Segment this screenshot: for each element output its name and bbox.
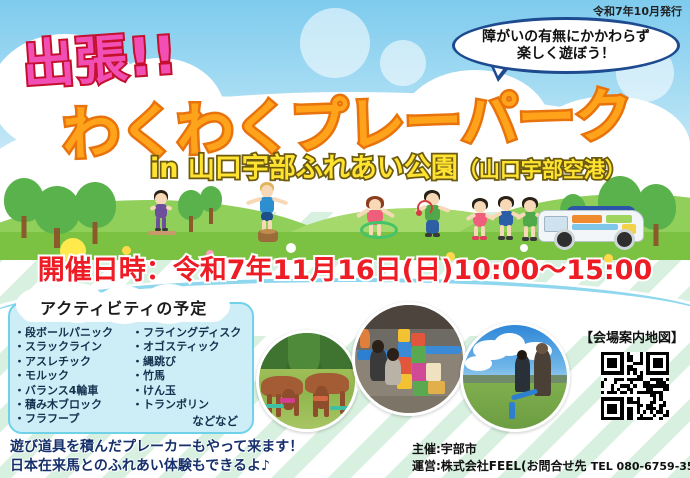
activity-item: ・バランス4輪車 — [14, 384, 126, 398]
kid-kendama-illustration — [414, 190, 450, 240]
activities-column-right: ・フライングディスク ・オゴスティック ・縄跳び ・竹馬 ・けん玉 ・トランポリ… — [132, 326, 244, 429]
speech-bubble: 障がいの有無にかかわらず 楽しく遊ぼう！ — [452, 17, 680, 74]
activities-columns: ・段ボールパニック ・スラックライン ・アスレチック ・モルック ・バランス4輪… — [14, 326, 250, 429]
venue-map-label: 【会場案内地図】 — [580, 327, 684, 346]
tree-icon — [74, 182, 116, 242]
activity-item: ・フラフープ — [14, 412, 126, 426]
footer-left-note: 遊び道具を積んだプレーカーもやって来ます！ 日本在来馬とのふれあい体験もできるよ… — [10, 438, 303, 476]
footer-host: 主催:宇部市 — [412, 442, 477, 456]
subtitle: in 山口宇部ふれあい公園（山口宇部空港） — [150, 146, 626, 185]
speech-bubble-line1: 障がいの有無にかかわらず — [482, 29, 650, 45]
activity-item: ・段ボールパニック — [14, 326, 126, 340]
event-flyer: 令和7年10月発行 障がいの有無にかかわらず 楽しく遊ぼう！ 出張!! わくわく… — [0, 0, 690, 478]
subtitle-airport: （山口宇部空港） — [458, 158, 626, 182]
date-banner: 開催日時：令和7年11月16日(日)10:00～15:00 — [38, 248, 653, 287]
footer-tel: TEL 080-6759-3559) — [591, 460, 690, 473]
footer-left-line1: 遊び道具を積んだプレーカーもやって来ます！ — [10, 439, 303, 455]
kids-foam-blocks-photo — [352, 302, 466, 416]
tree-icon — [200, 186, 222, 226]
activity-item: ・オゴスティック — [132, 340, 244, 354]
kid-hula-hoop-illustration — [356, 196, 394, 242]
kids-on-grass-photo — [460, 322, 570, 432]
activity-item: ・けん玉 — [132, 384, 244, 398]
activity-item: ・アスレチック — [14, 355, 126, 369]
activities-heading: アクティビティの予定 — [40, 295, 207, 319]
activity-item: ・縄跳び — [132, 355, 244, 369]
activity-item: ・スラックライン — [14, 340, 126, 354]
activity-item: ・モルック — [14, 369, 126, 383]
issue-date-label: 令和7年10月発行 — [593, 3, 682, 19]
play-car-van-illustration — [538, 204, 646, 250]
activity-item: ・竹馬 — [132, 369, 244, 383]
activity-item: ・フライングディスク — [132, 326, 244, 340]
footer-operator: 運営:株式会社FEEL(お問合せ先 — [412, 459, 591, 473]
activities-more-label: などなど — [132, 413, 244, 429]
horses-grazing-photo — [256, 330, 358, 432]
venue-map-qr-code[interactable] — [601, 352, 669, 420]
activity-item: ・トランポリン — [132, 398, 244, 412]
kid-on-stump-illustration — [246, 182, 286, 240]
subtitle-venue: in 山口宇部ふれあい公園 — [150, 153, 458, 184]
activities-column-left: ・段ボールパニック ・スラックライン ・アスレチック ・モルック ・バランス4輪… — [14, 326, 126, 429]
footer-left-line2: 日本在来馬とのふれあい体験もできるよ♪ — [10, 458, 270, 474]
sky-bubble-icon — [300, 8, 370, 78]
speech-bubble-line2: 楽しく遊ぼう！ — [517, 46, 615, 62]
kid-balance-illustration — [148, 190, 174, 234]
activity-item: ・積み木ブロック — [14, 398, 126, 412]
footer-organizer-info: 主催:宇部市 運営:株式会社FEEL(お問合せ先 TEL 080-6759-35… — [412, 441, 690, 475]
